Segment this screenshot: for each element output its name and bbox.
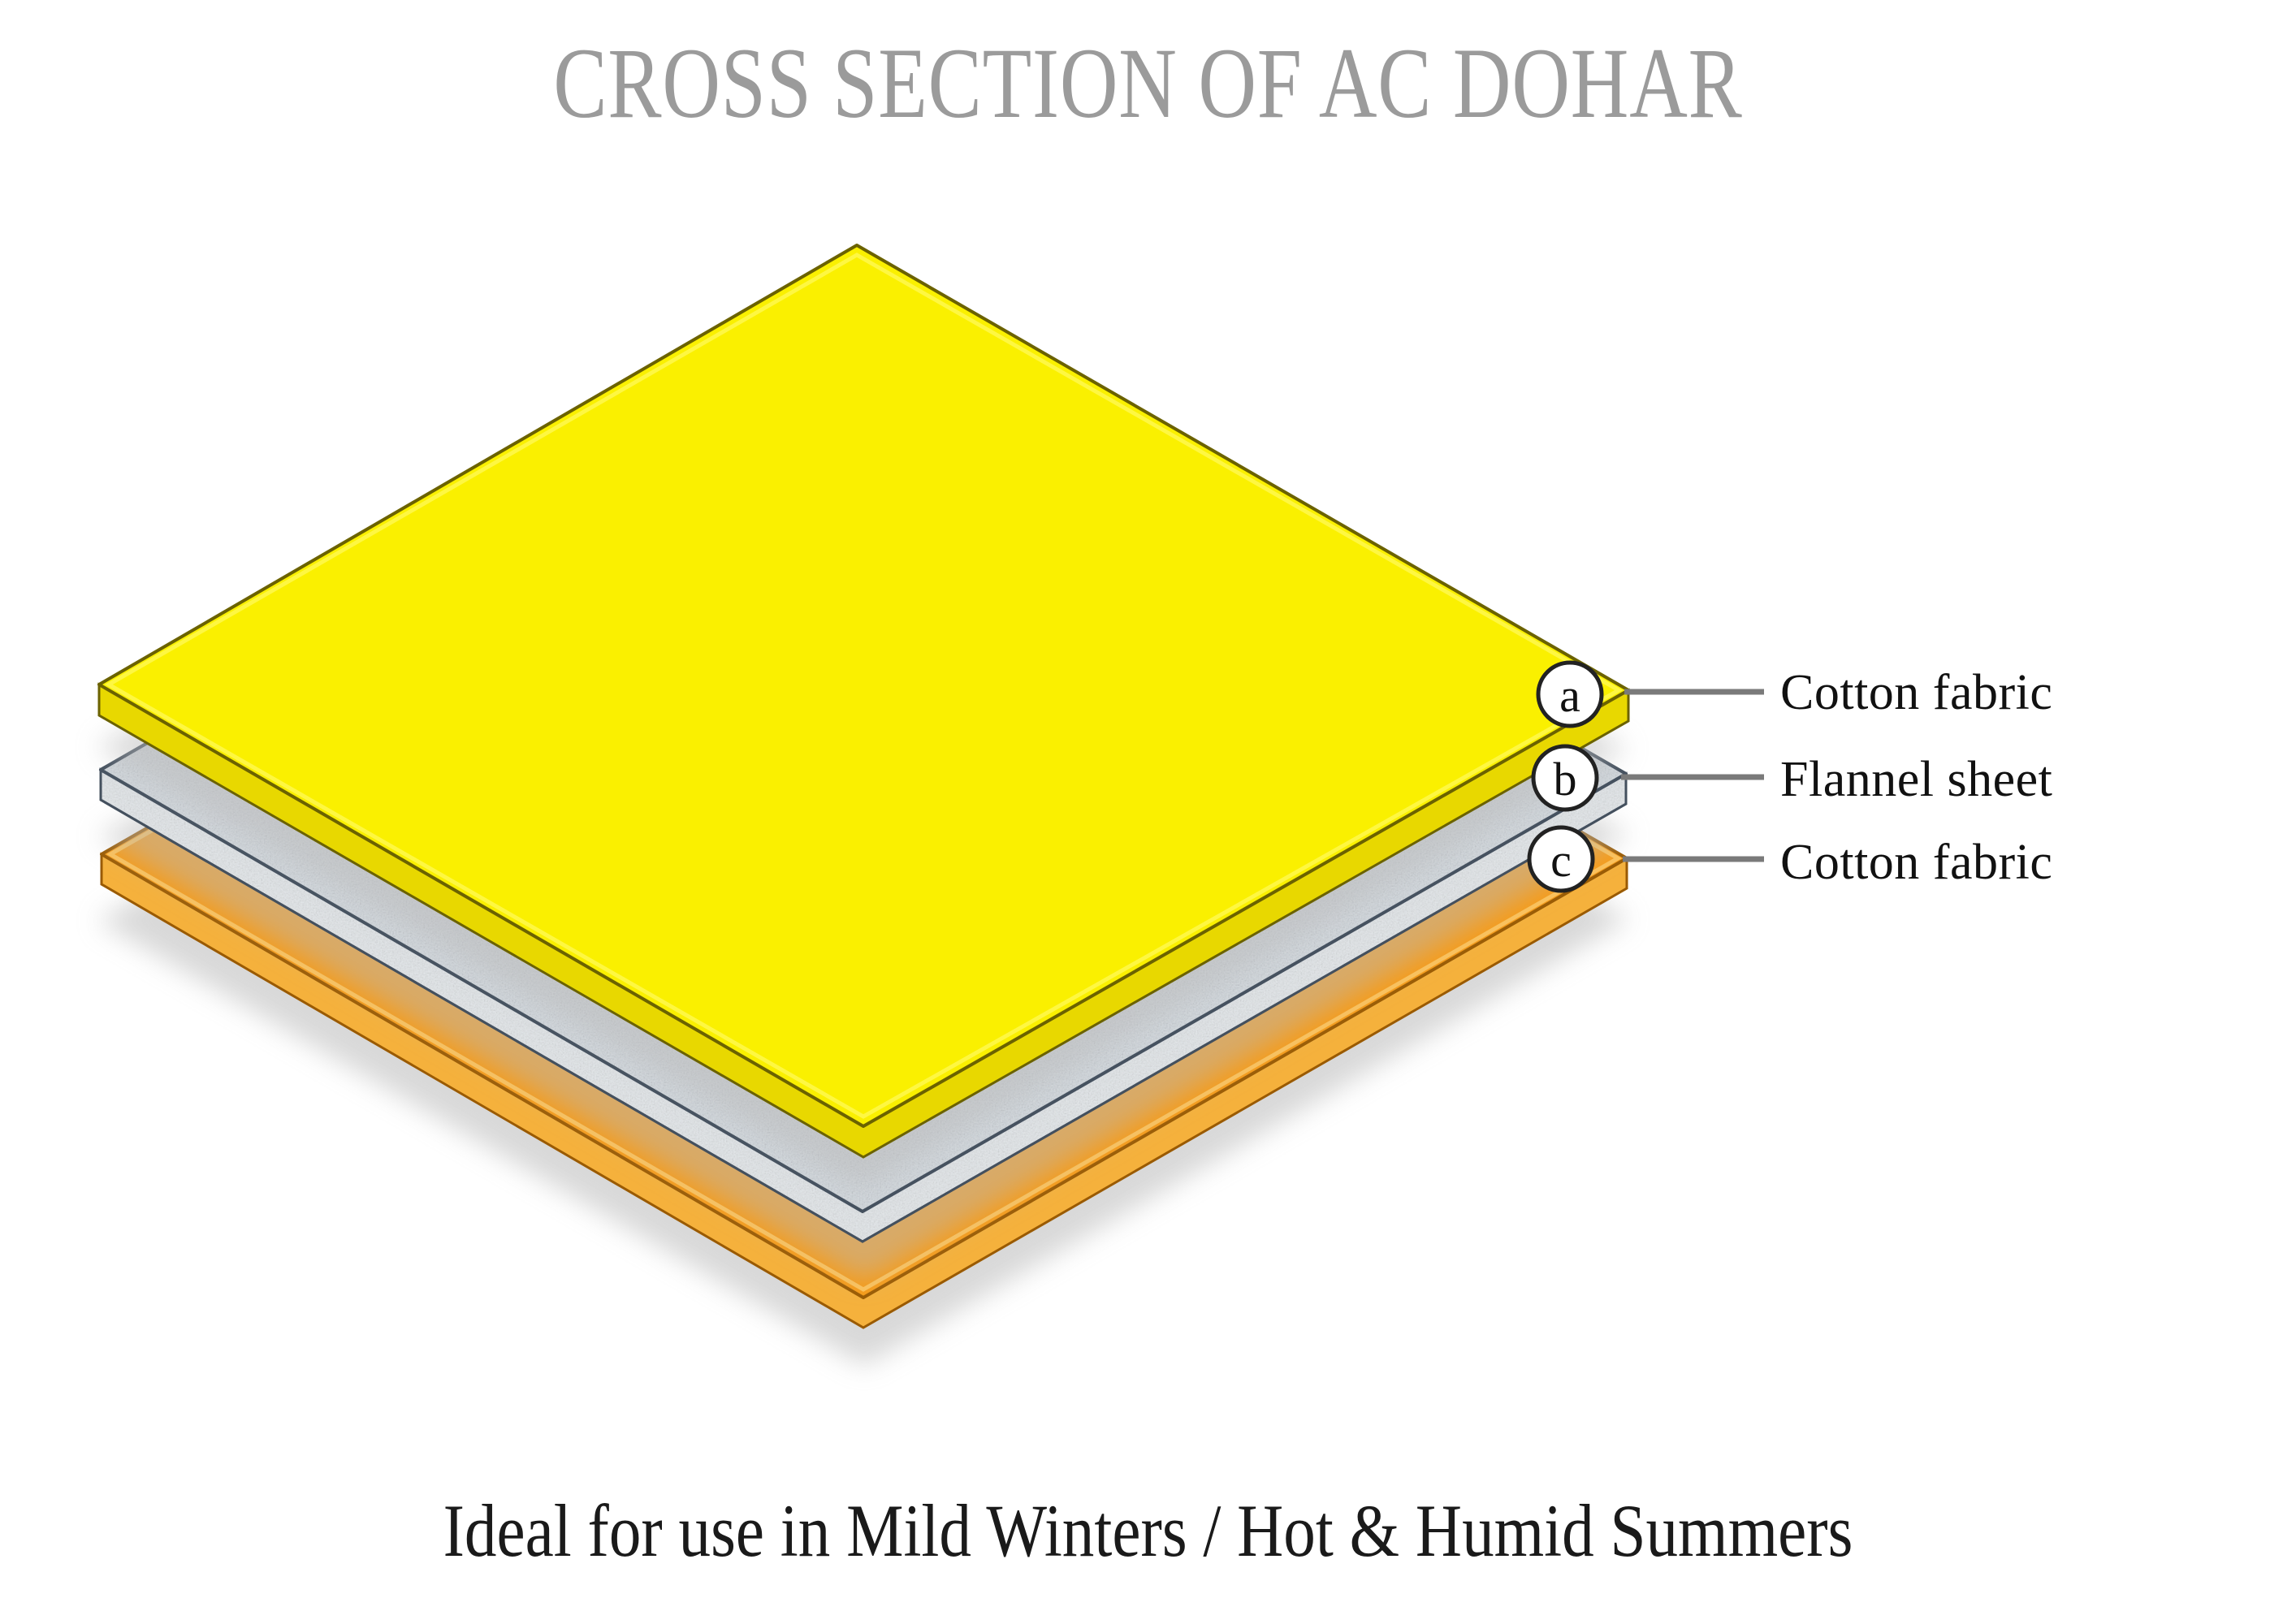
badge-c[interactable]: c: [1529, 827, 1593, 891]
layer-label-a: Cotton fabric: [1780, 664, 2052, 722]
badge-c-letter: c: [1550, 834, 1572, 887]
leader-lines: [1621, 692, 1764, 859]
badge-a-letter: a: [1559, 669, 1580, 722]
layer-label-c: Cotton fabric: [1780, 834, 2052, 892]
page-caption: Ideal for use in Mild Winters / Hot & Hu…: [161, 1488, 2135, 1574]
badge-b-letter: b: [1554, 753, 1577, 806]
badge-b[interactable]: b: [1533, 746, 1597, 810]
diagram-canvas: CROSS SECTION OF AC DOHAR: [0, 0, 2296, 1624]
badge-a[interactable]: a: [1538, 663, 1602, 726]
layer-label-b: Flannel sheet: [1780, 751, 2052, 809]
layer-badges: a b c: [1529, 663, 1602, 891]
cross-section-illustration: a b c: [0, 0, 2296, 1624]
